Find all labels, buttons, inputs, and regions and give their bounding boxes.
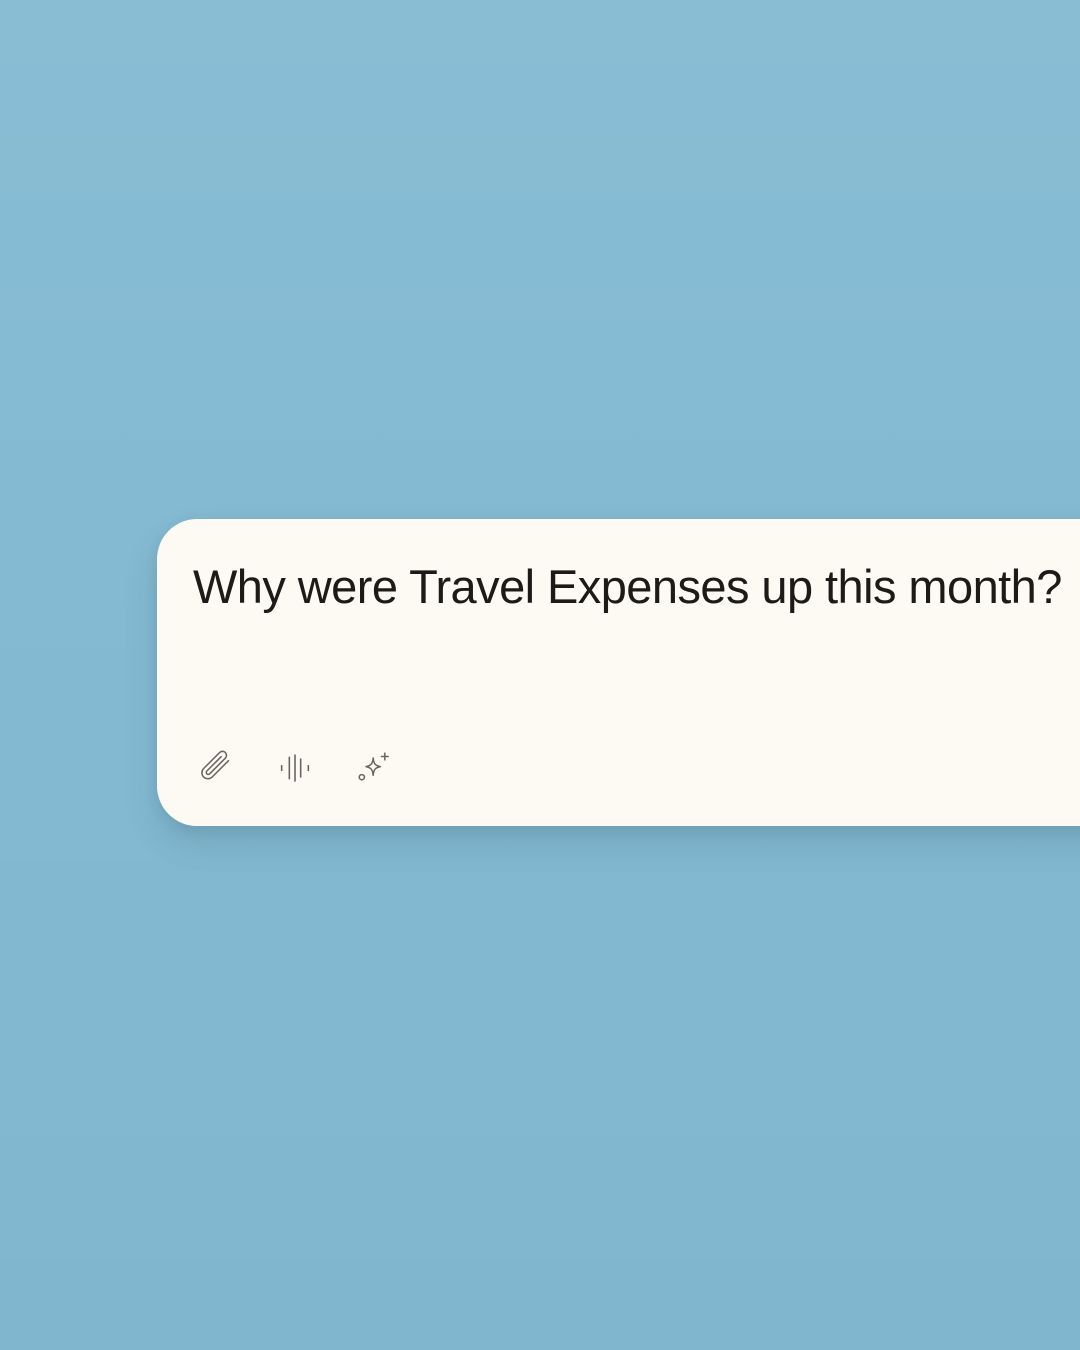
prompt-composer-card: Why were Travel Expenses up this month?	[157, 519, 1080, 826]
composer-inner: Why were Travel Expenses up this month?	[157, 519, 1080, 826]
composer-toolbar	[193, 744, 397, 792]
waveform-icon	[275, 748, 315, 788]
ai-enhance-button[interactable]	[349, 744, 397, 792]
voice-input-button[interactable]	[271, 744, 319, 792]
sparkle-plus-icon	[353, 748, 393, 788]
prompt-input[interactable]: Why were Travel Expenses up this month?	[193, 559, 1062, 614]
paperclip-icon	[197, 748, 237, 788]
attach-file-button[interactable]	[193, 744, 241, 792]
